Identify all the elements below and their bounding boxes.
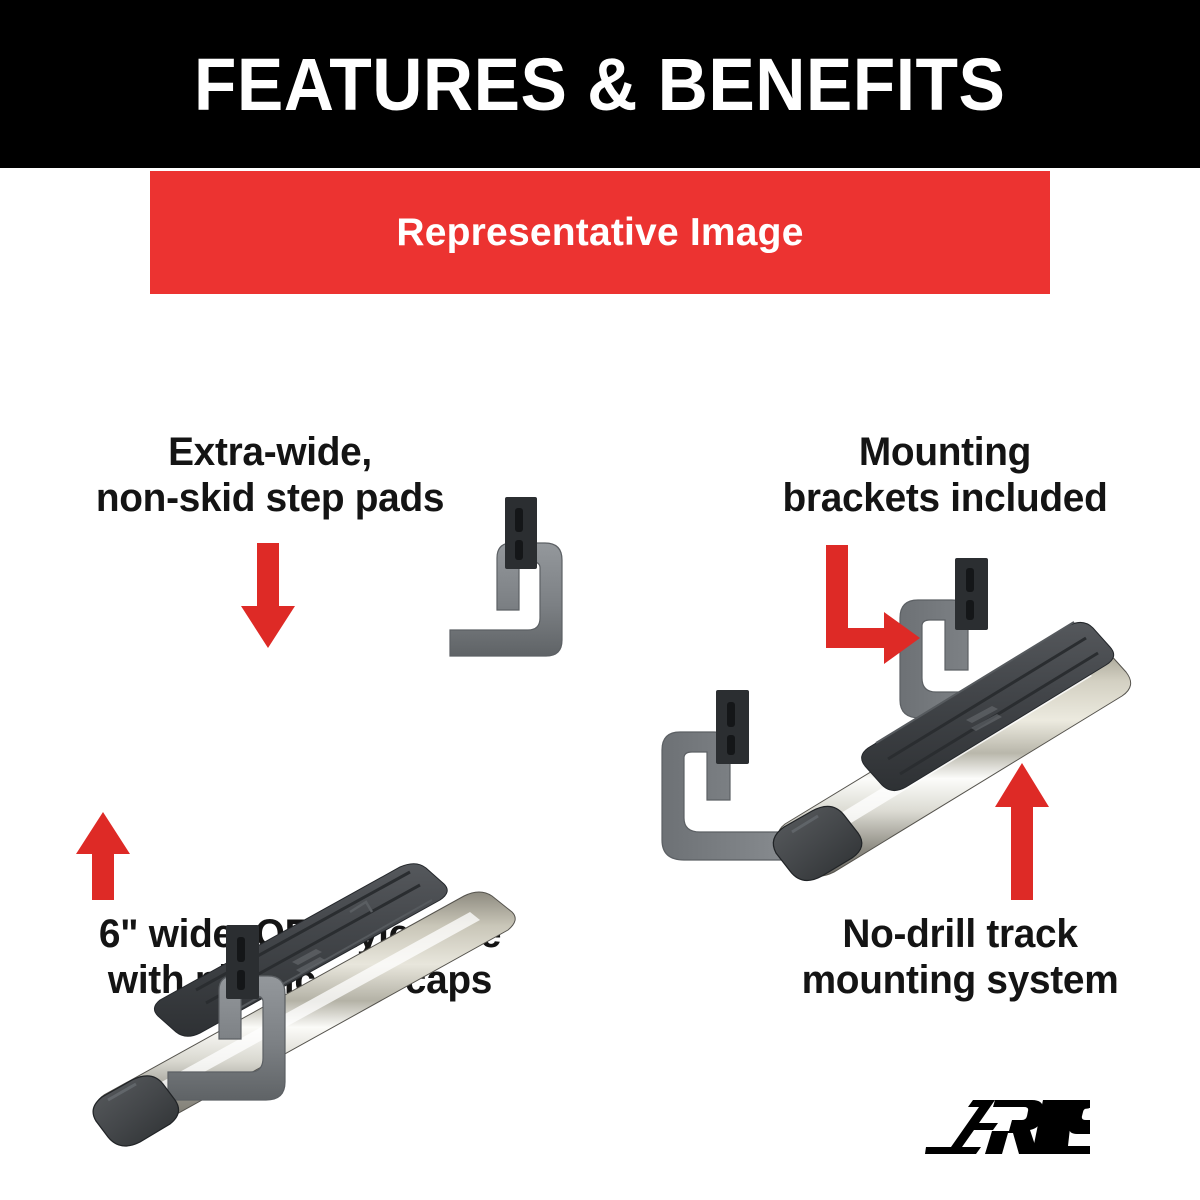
aries-logo: ® [925, 1098, 1090, 1158]
page-title: FEATURES & BENEFITS [194, 42, 1005, 127]
bracket-slot [515, 540, 523, 560]
product-artwork [0, 300, 1200, 1200]
bracket-slot [966, 600, 974, 620]
mounting-bracket-rear-left-product [450, 497, 562, 656]
header-bar: FEATURES & BENEFITS [0, 0, 1200, 168]
bracket-slot [727, 735, 735, 755]
banner-label: Representative Image [396, 211, 803, 255]
arrow-up-shape [76, 812, 130, 900]
bracket-slot [515, 508, 523, 532]
aries-wordmark-icon: ® [925, 1098, 1090, 1158]
mounting-bracket-front-right-product [662, 690, 790, 860]
bracket-slot [966, 568, 974, 592]
arrow-down-shape [241, 543, 295, 648]
arrow-up-icon [995, 763, 1049, 900]
bracket-slot [727, 702, 735, 727]
product-left [93, 497, 562, 1146]
product-illustration-stage [0, 300, 1200, 1200]
bracket-slot [237, 970, 245, 990]
registered-trademark-icon: ® [1083, 1101, 1090, 1112]
representative-image-banner: Representative Image [150, 171, 1050, 294]
product-right [662, 558, 1131, 880]
arrow-down-icon [241, 543, 295, 648]
arrow-up-shape [995, 763, 1049, 900]
arrow-up-icon [76, 812, 130, 900]
bracket-slot [237, 937, 245, 962]
